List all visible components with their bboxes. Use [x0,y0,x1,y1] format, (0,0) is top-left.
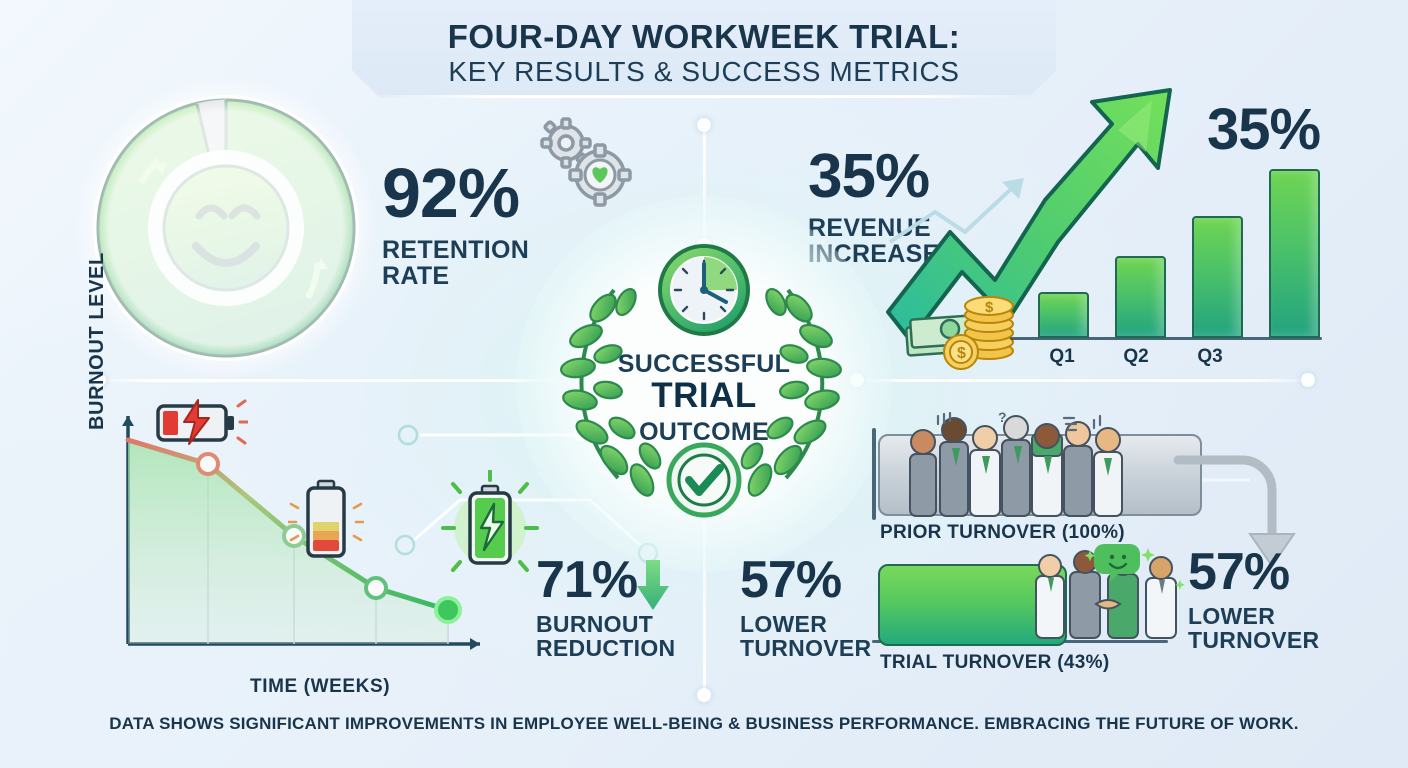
bar-chart-bars [1030,138,1320,338]
bar-q1 [1038,292,1089,338]
burnout-label-line2: REDUCTION [536,637,706,661]
burnout-label-line1: BURNOUT [536,613,706,637]
burnout-value: 71% [536,556,706,605]
connector-node [697,118,711,132]
medium-battery-icon [288,478,364,560]
bar-label-q3: Q3 [1186,346,1234,368]
bar-q4 [1269,169,1320,338]
connector-node [1301,373,1315,387]
medallion-line1: SUCCESSFUL [556,350,852,379]
gears-heart-icon [530,115,635,220]
burnout-metric: 71% BURNOUT REDUCTION [536,556,706,661]
svg-text:?: ? [998,412,1007,425]
stressed-employees-icon: ? [906,412,1126,520]
bar-label-q2: Q2 [1112,346,1160,368]
retention-label-line1: RETENTION [382,237,582,263]
medallion-line3: OUTCOME [556,418,852,447]
bar-label-q4 [1260,346,1308,368]
connector-node [697,688,711,702]
svg-text:$: $ [985,299,994,316]
caption-trial-turnover: TRIAL TURNOVER (43%) [880,652,1109,674]
turnover-axis-vertical [872,428,876,520]
money-coins-icon: $ $ [905,265,1035,370]
revenue-badge: 35% [1207,96,1320,163]
lower-turnover-line1: LOWER [1188,605,1358,629]
successful-trial-medallion: SUCCESSFUL TRIAL OUTCOME [556,228,852,528]
footer-text: DATA SHOWS SIGNIFICANT IMPROVEMENTS IN E… [0,714,1408,734]
check-circle-icon [669,445,739,515]
retention-donut-chart [86,88,366,368]
infographic-canvas: FOUR-DAY WORKWEEK TRIAL: KEY RESULTS & S… [0,0,1408,768]
caption-prior-turnover: PRIOR TURNOVER (100%) [880,522,1125,544]
medallion-line2: TRIAL [556,376,852,416]
charged-battery-icon [438,470,542,580]
low-battery-icon [152,396,248,452]
bar-chart-labels: Q1 Q2 Q3 [1030,346,1320,368]
bar-q2 [1115,256,1166,338]
lower-turnover-line2: TURNOVER [1188,629,1358,653]
bar-q3 [1192,216,1243,338]
lower-turnover-metric: 57% LOWER TURNOVER [1188,548,1358,653]
lower-turnover-value: 57% [1188,548,1358,597]
clock-icon [660,246,748,334]
down-arrow-icon [634,560,672,612]
bar-label-q1: Q1 [1038,346,1086,368]
page-title: FOUR-DAY WORKWEEK TRIAL: [0,18,1408,56]
divider-left [96,379,566,382]
svg-text:$: $ [957,345,966,362]
